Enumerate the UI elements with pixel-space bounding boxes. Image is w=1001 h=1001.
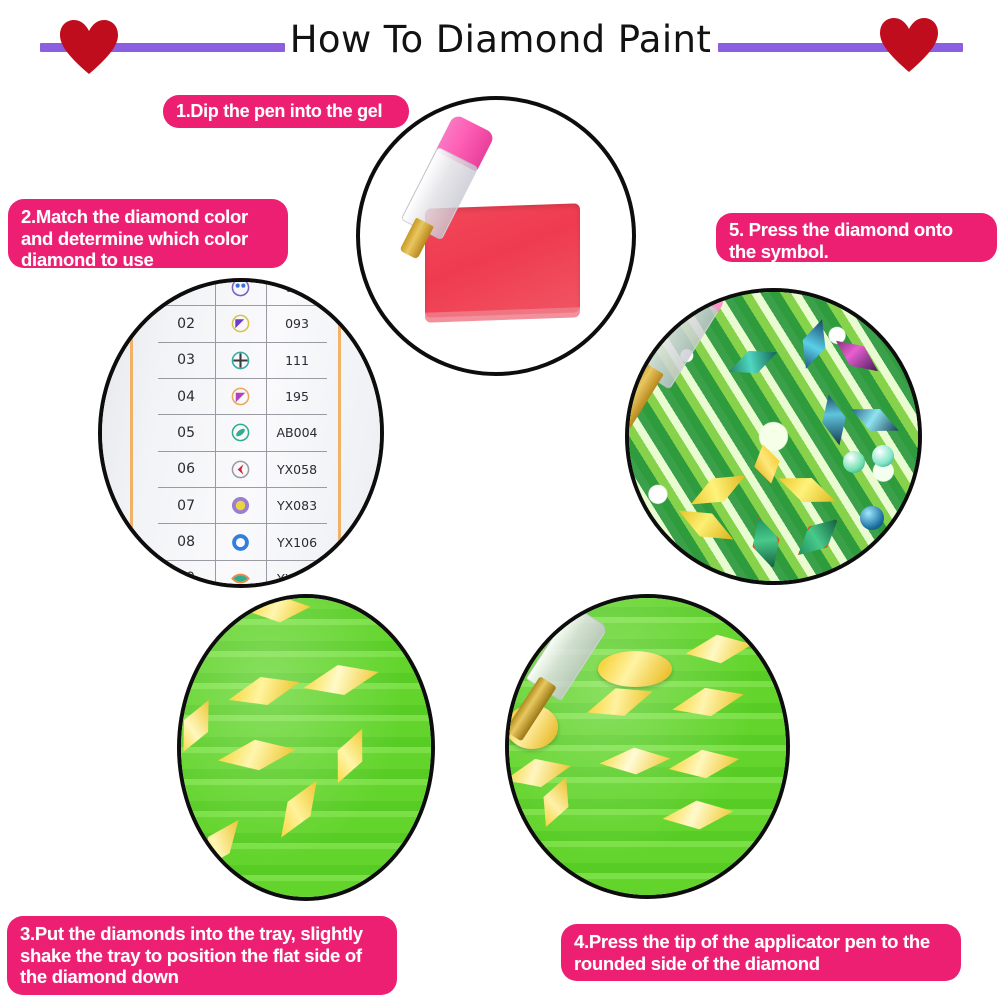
- page-title: How To Diamond Paint: [0, 18, 1001, 61]
- diamond: [188, 811, 251, 880]
- legend-code: YX083: [267, 488, 327, 523]
- step-1-photo-gel-dip: [356, 96, 636, 376]
- gem-yellow-highlighted: [751, 442, 785, 487]
- legend-symbol-triangle-corner-icon: [216, 379, 267, 414]
- diamond: [245, 594, 313, 625]
- diamond: [268, 772, 329, 846]
- legend-number: 09: [158, 561, 216, 588]
- table-row: 07 YX083: [158, 488, 328, 524]
- diamond: [667, 680, 748, 725]
- gem-yellow: [774, 466, 841, 513]
- diamond-target: [597, 744, 673, 777]
- legend-code: 111: [267, 343, 327, 378]
- gem-blue: [817, 392, 851, 448]
- gem-yellow: [673, 499, 740, 551]
- gem-dot: [843, 451, 865, 473]
- gem-teal: [725, 341, 782, 383]
- legend-code: YX058: [267, 452, 327, 487]
- legend-code: 028: [267, 278, 327, 305]
- legend-number: 05: [158, 415, 216, 450]
- diamond: [665, 744, 742, 784]
- step-2-label: 2.Match the diamond color and determine …: [8, 199, 288, 268]
- legend-number: 04: [158, 379, 216, 414]
- table-row: 08 YX106: [158, 524, 328, 560]
- legend-code: 093: [267, 306, 327, 341]
- pen-tip: [625, 362, 664, 432]
- legend-number: 03: [158, 343, 216, 378]
- green-tray-scene: [181, 598, 431, 897]
- legend-table: 028 02 093 03 111 04: [158, 278, 328, 588]
- legend-symbol-open-ring-icon: [216, 524, 267, 559]
- gem-blue: [846, 398, 903, 441]
- legend-code: AB004: [267, 415, 327, 450]
- table-row: 02 093: [158, 306, 328, 342]
- legend-symbol-filled-dot-icon: [216, 488, 267, 523]
- legend-symbol-triangle-corner-icon: [216, 306, 267, 341]
- gem-blue: [794, 316, 833, 373]
- legend-number: 02: [158, 306, 216, 341]
- legend-symbol-plus-cross-icon: [216, 343, 267, 378]
- gem-dot: [872, 445, 894, 467]
- legend-number: [158, 278, 216, 305]
- legend-number: 08: [158, 524, 216, 559]
- step-3-label: 3.Put the diamonds into the tray, slight…: [7, 916, 397, 995]
- pen-tip: [400, 218, 435, 260]
- legend-number: 07: [158, 488, 216, 523]
- gem-green-outlined: [745, 513, 787, 573]
- diamond: [177, 693, 222, 759]
- table-row: 04 195: [158, 379, 328, 415]
- diamond: [223, 667, 304, 714]
- diamond: [598, 651, 672, 687]
- diamond: [682, 629, 755, 668]
- gem-magenta: [829, 331, 885, 381]
- green-tray-scene: [509, 598, 786, 895]
- diamond: [660, 796, 737, 834]
- step-4-label: 4.Press the tip of the applicator pen to…: [561, 924, 961, 981]
- legend-code: 195: [267, 379, 327, 414]
- step-5-label: 5. Press the diamond onto the symbol.: [716, 213, 997, 262]
- table-row: 09 YX125: [158, 561, 328, 588]
- legend-number: 06: [158, 452, 216, 487]
- diamond: [214, 733, 300, 776]
- chart-margin-line: [338, 282, 341, 584]
- legend-code: YX106: [267, 524, 327, 559]
- applicator-pen: [625, 288, 726, 436]
- step-5-photo-press-diamond: [625, 288, 922, 585]
- step-3-photo-diamond-tray: [177, 594, 435, 901]
- chart-margin-line: [130, 282, 133, 584]
- table-row: 03 111: [158, 343, 328, 379]
- legend-symbol-slash-oval-icon: [216, 415, 267, 450]
- step-4-photo-pen-pickup: [505, 594, 790, 899]
- gel-photo-scene: [360, 100, 632, 372]
- gem-dot: [860, 506, 884, 530]
- diamond: [324, 722, 375, 790]
- step-2-photo-color-chart: 028 02 093 03 111 04: [98, 278, 384, 588]
- legend-symbol-left-arrow-wedge-icon: [216, 452, 267, 487]
- table-row: 05 AB004: [158, 415, 328, 451]
- page-header: How To Diamond Paint: [0, 0, 1001, 88]
- gem-yellow: [684, 464, 751, 516]
- legend-symbol-double-dot-circle-icon: [216, 278, 267, 305]
- legend-code: YX125: [267, 561, 327, 588]
- gem-green-outlined: [788, 509, 847, 566]
- canvas-mosaic-scene: [629, 292, 918, 581]
- chart-paper: 028 02 093 03 111 04: [102, 282, 380, 584]
- diamond: [299, 656, 384, 704]
- legend-symbol-leaf-marquise-icon: [216, 561, 267, 588]
- table-row: 06 YX058: [158, 452, 328, 488]
- table-row: 028: [158, 278, 328, 306]
